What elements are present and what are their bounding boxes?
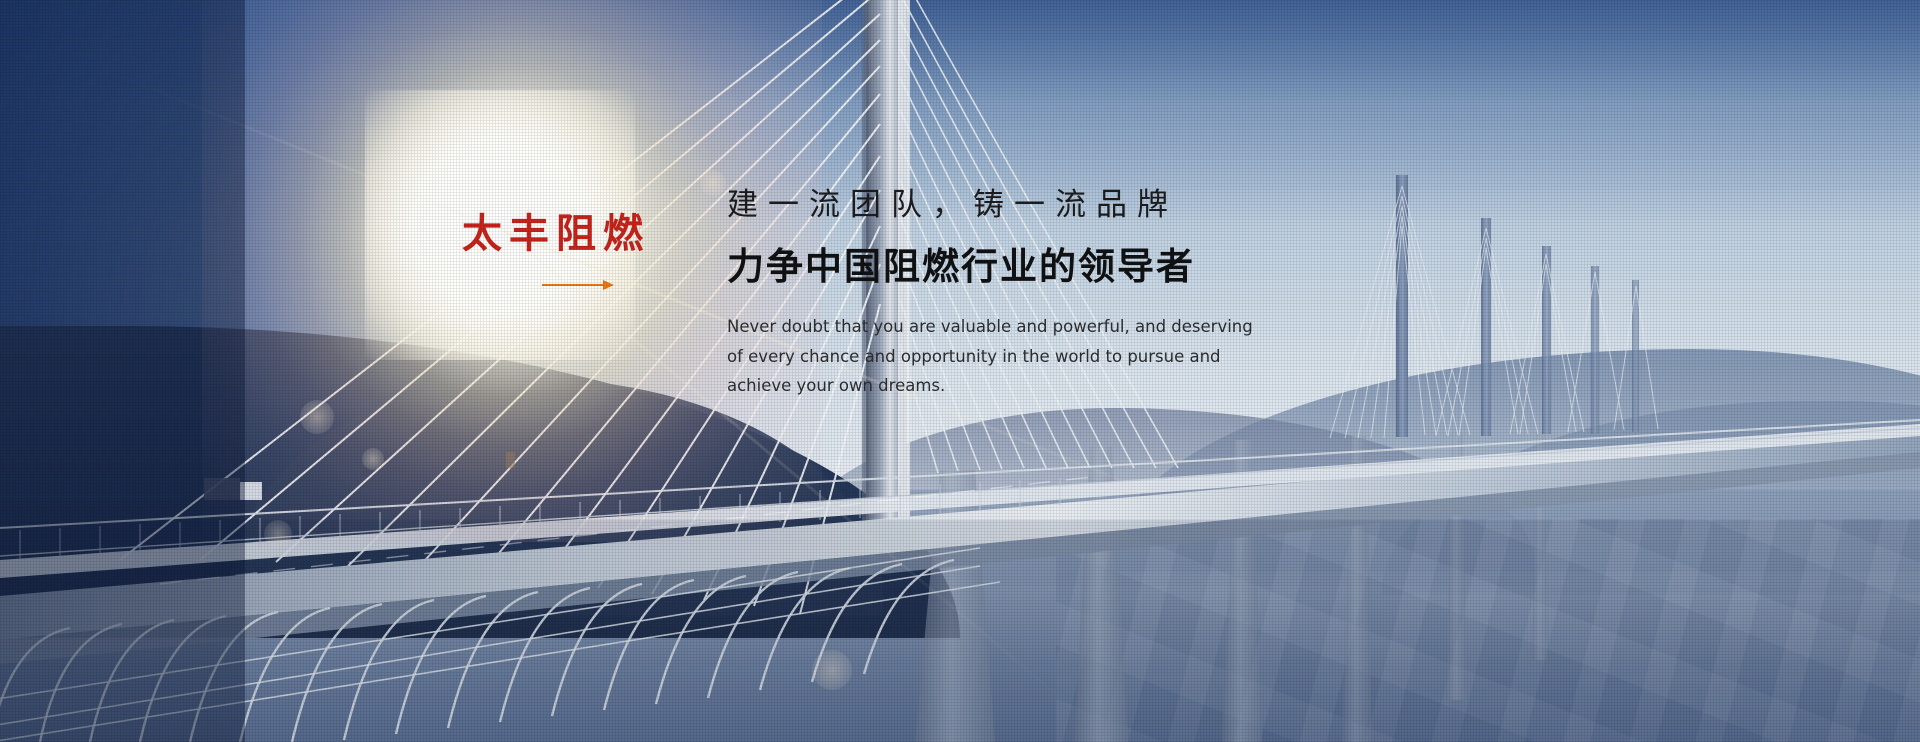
subcopy-line: Never doubt that you are valuable and po… <box>727 312 1187 341</box>
hero-banner: 太丰阻燃 建一流团队，铸一流品牌 力争中国阻燃行业的领导者 Never doub… <box>0 0 1920 742</box>
brand-logo-text: 太丰阻燃 <box>462 212 642 256</box>
subcopy-line: achieve your own dreams. <box>727 371 1187 400</box>
arrow-head <box>603 280 614 290</box>
headline-secondary: 力争中国阻燃行业的领导者 <box>727 245 1447 289</box>
banner-copy-block: 建一流团队，铸一流品牌 力争中国阻燃行业的领导者 Never doubt tha… <box>727 186 1447 400</box>
arrow-shaft <box>542 284 608 286</box>
brand-logo[interactable]: 太丰阻燃 <box>462 212 642 290</box>
banner-content: 太丰阻燃 建一流团队，铸一流品牌 力争中国阻燃行业的领导者 Never doub… <box>0 0 1920 742</box>
headline-primary: 建一流团队，铸一流品牌 <box>727 186 1447 225</box>
subcopy-line: of every chance and opportunity in the w… <box>727 342 1187 371</box>
arrow-right-icon <box>542 280 614 290</box>
subcopy-paragraph: Never doubt that you are valuable and po… <box>727 312 1187 400</box>
